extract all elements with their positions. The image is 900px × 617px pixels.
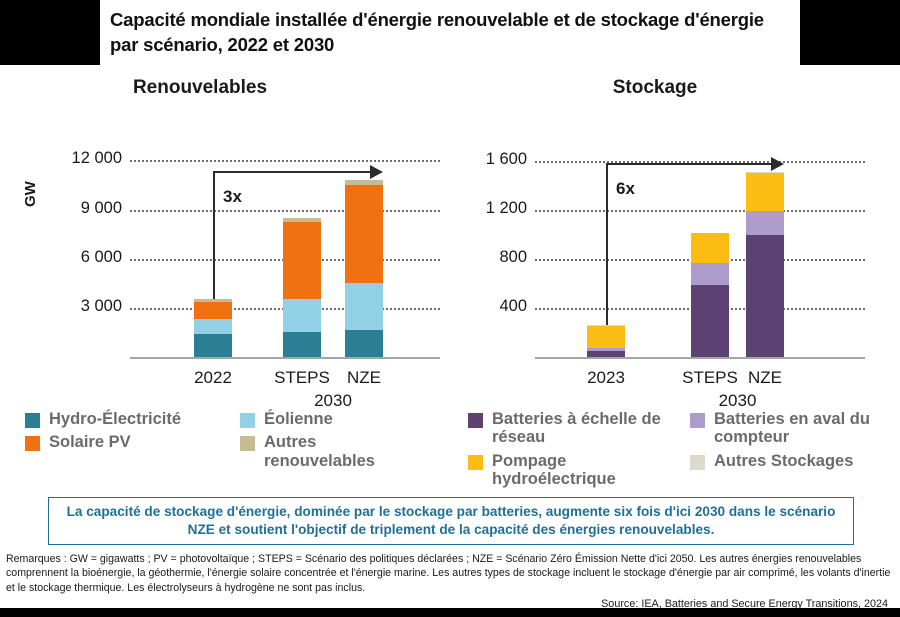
bar-segment-grid_battery	[691, 285, 729, 357]
legend-item[interactable]: Batteries à échelle de réseau	[468, 410, 678, 447]
y-axis-tick-label: 12 000	[30, 149, 122, 168]
bar-segment-pumped_hydro	[746, 173, 784, 212]
page-title: Capacité mondiale installée d'énergie re…	[110, 8, 770, 57]
key-message-text: La capacité de stockage d'énergie, domin…	[57, 503, 845, 539]
plot-area-storage: 4008001 2001 6002023STEPSNZE20306x	[455, 65, 900, 405]
legend-swatch-pumped_hydro	[468, 455, 483, 470]
title-band: Capacité mondiale installée d'énergie re…	[0, 0, 900, 65]
bar-segment-behind_meter_battery	[691, 263, 729, 284]
legend-swatch-grid_battery	[468, 413, 483, 428]
legend-label: Autres renouvelables	[264, 433, 405, 470]
bar-segment-grid_battery	[746, 235, 784, 357]
bar-segment-solar	[345, 185, 383, 282]
bar-nze[interactable]	[746, 172, 784, 357]
gridline	[130, 160, 440, 162]
bar-steps[interactable]	[283, 218, 321, 357]
legend-column-storage-2: Batteries en aval du compteurAutres Stoc…	[690, 410, 890, 475]
legend-item[interactable]: Autres Stockages	[690, 452, 890, 470]
legend-item[interactable]: Pompage hydroélectrique	[468, 452, 678, 489]
legend-label: Autres Stockages	[714, 452, 853, 470]
chart-canvas: Renouvelables GW3 0006 0009 00012 000202…	[0, 65, 900, 550]
x-axis-tick-label-nze: NZE	[720, 368, 810, 388]
y-axis-tick-label: 9 000	[30, 199, 122, 218]
bar-nze[interactable]	[345, 180, 383, 357]
y-axis-tick-label: 400	[435, 297, 527, 316]
chart-panel-storage: Stockage 4008001 2001 6002023STEPSNZE203…	[455, 65, 900, 405]
bar-segment-pumped_hydro	[691, 233, 729, 263]
gridline	[130, 210, 440, 212]
bar-segment-wind	[283, 299, 321, 332]
footer: Remarques : GW = gigawatts ; PV = photov…	[0, 550, 900, 617]
legend-column-storage-1: Batteries à échelle de réseauPompage hyd…	[468, 410, 678, 494]
legend-label: Hydro-Électricité	[49, 410, 181, 428]
legend-item[interactable]: Solaire PV	[25, 433, 220, 451]
y-axis-tick-label: 1 200	[435, 199, 527, 218]
legend-area: Hydro-ÉlectricitéSolaire PV ÉolienneAutr…	[0, 410, 900, 490]
x-axis-tick-label-2023: 2023	[561, 368, 651, 388]
x-axis-group-label: 2030	[693, 391, 783, 411]
x-axis-group-label: 2030	[288, 391, 378, 411]
legend-swatch-other_storage	[690, 455, 705, 470]
bar-segment-grid_battery	[587, 351, 625, 357]
arrow-head-icon	[771, 157, 784, 171]
bar-segment-pumped_hydro	[587, 326, 625, 349]
legend-swatch-wind	[240, 413, 255, 428]
bar-segment-hydro	[345, 330, 383, 357]
arrow-vertical-stem	[606, 163, 608, 325]
bar-segment-solar	[194, 302, 232, 319]
legend-item[interactable]: Éolienne	[240, 410, 405, 428]
bar-segment-wind	[345, 283, 383, 330]
gridline	[535, 210, 865, 212]
legend-item[interactable]: Hydro-Électricité	[25, 410, 220, 428]
arrow-horizontal-stem	[213, 171, 371, 173]
bar-segment-hydro	[194, 334, 232, 357]
y-axis-tick-label: 6 000	[30, 248, 122, 267]
legend-item[interactable]: Batteries en aval du compteur	[690, 410, 890, 447]
legend-swatch-behind_meter_battery	[690, 413, 705, 428]
bar-segment-solar	[283, 222, 321, 299]
legend-label: Batteries à échelle de réseau	[492, 410, 678, 447]
bar-steps[interactable]	[691, 233, 729, 357]
plot-area-renewables: GW3 0006 0009 00012 0002022STEPSNZE20303…	[0, 65, 455, 405]
y-axis-tick-label: 3 000	[30, 297, 122, 316]
bar-segment-hydro	[283, 332, 321, 357]
legend-label: Solaire PV	[49, 433, 131, 451]
legend-swatch-hydro	[25, 413, 40, 428]
chart-panel-renewables: Renouvelables GW3 0006 0009 00012 000202…	[0, 65, 455, 405]
arrow-vertical-stem	[213, 171, 215, 299]
legend-column-renewables-1: Hydro-ÉlectricitéSolaire PV	[25, 410, 220, 457]
bar-2023[interactable]	[587, 325, 625, 357]
legend-label: Éolienne	[264, 410, 333, 428]
bar-segment-wind	[194, 319, 232, 334]
legend-label: Pompage hydroélectrique	[492, 452, 678, 489]
growth-multiplier-label: 6x	[616, 179, 635, 199]
arrow-horizontal-stem	[606, 163, 772, 165]
x-axis-tick-label-nze: NZE	[319, 368, 409, 388]
x-axis-tick-label-2022: 2022	[168, 368, 258, 388]
arrow-head-icon	[370, 165, 383, 179]
legend-label: Batteries en aval du compteur	[714, 410, 890, 447]
title-box: Capacité mondiale installée d'énergie re…	[100, 0, 800, 65]
y-axis-tick-label: 800	[435, 248, 527, 267]
bar-segment-behind_meter_battery	[746, 211, 784, 234]
footnote-remarks: Remarques : GW = gigawatts ; PV = photov…	[6, 552, 892, 595]
footer-black-bar	[0, 608, 900, 617]
x-axis-baseline	[130, 357, 440, 359]
key-message-banner: La capacité de stockage d'énergie, domin…	[48, 497, 854, 545]
bar-2022[interactable]	[194, 299, 232, 357]
y-axis-tick-label: 1 600	[435, 150, 527, 169]
legend-swatch-other_renewables	[240, 436, 255, 451]
growth-multiplier-label: 3x	[223, 187, 242, 207]
x-axis-baseline	[535, 357, 865, 359]
legend-item[interactable]: Autres renouvelables	[240, 433, 405, 470]
legend-column-renewables-2: ÉolienneAutres renouvelables	[240, 410, 405, 475]
legend-swatch-solar	[25, 436, 40, 451]
